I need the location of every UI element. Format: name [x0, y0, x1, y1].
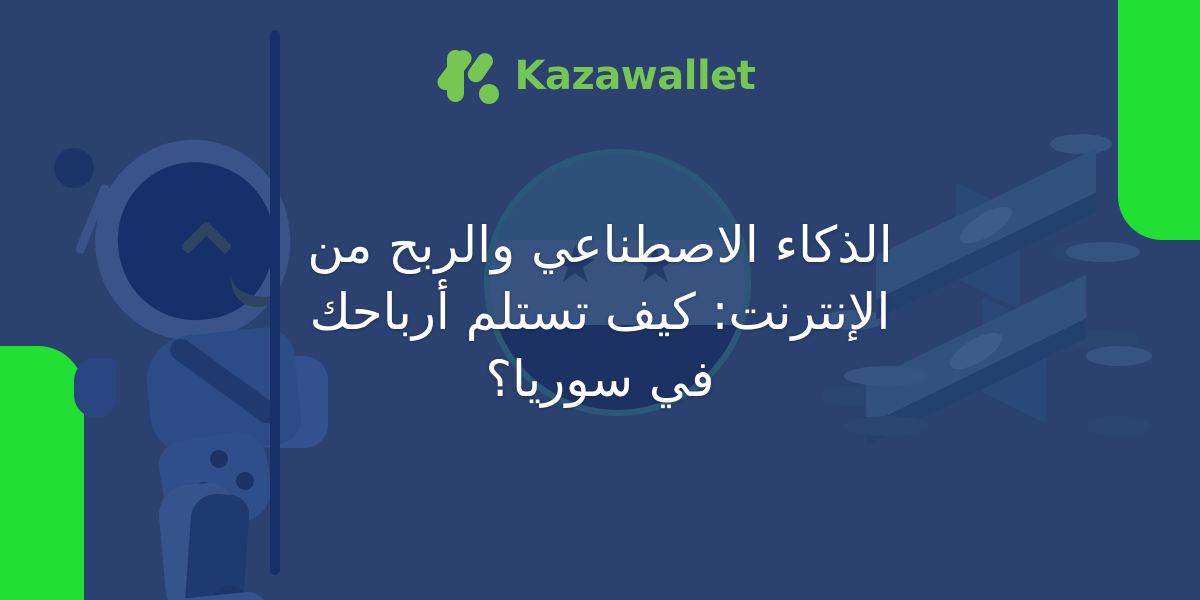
astronaut-shin — [184, 492, 251, 600]
astronaut-hip-dot — [210, 450, 228, 468]
brand-logo[interactable]: Kazawallet — [0, 48, 1200, 104]
headline-line-2: الإنترنت: كيف تستلم أرباحك — [150, 279, 1050, 346]
kazawallet-k-logo-icon — [445, 48, 501, 104]
astronaut-hip-dot — [236, 472, 254, 490]
headline-line-1: الذكاء الاصطناعي والربح من — [150, 212, 1050, 279]
headline-line-3: في سوريا؟ — [150, 346, 1050, 413]
coin-stack — [1086, 346, 1152, 436]
page-title: الذكاء الاصطناعي والربح من الإنترنت: كيف… — [150, 212, 1050, 413]
astronaut-antenna-ball — [54, 148, 94, 188]
astronaut-ear-pod — [74, 358, 116, 418]
brand-name: Kazawallet — [515, 53, 756, 99]
blog-cover-banner: Kazawallet الذكاء الاصطناعي والربح من ال… — [0, 0, 1200, 600]
